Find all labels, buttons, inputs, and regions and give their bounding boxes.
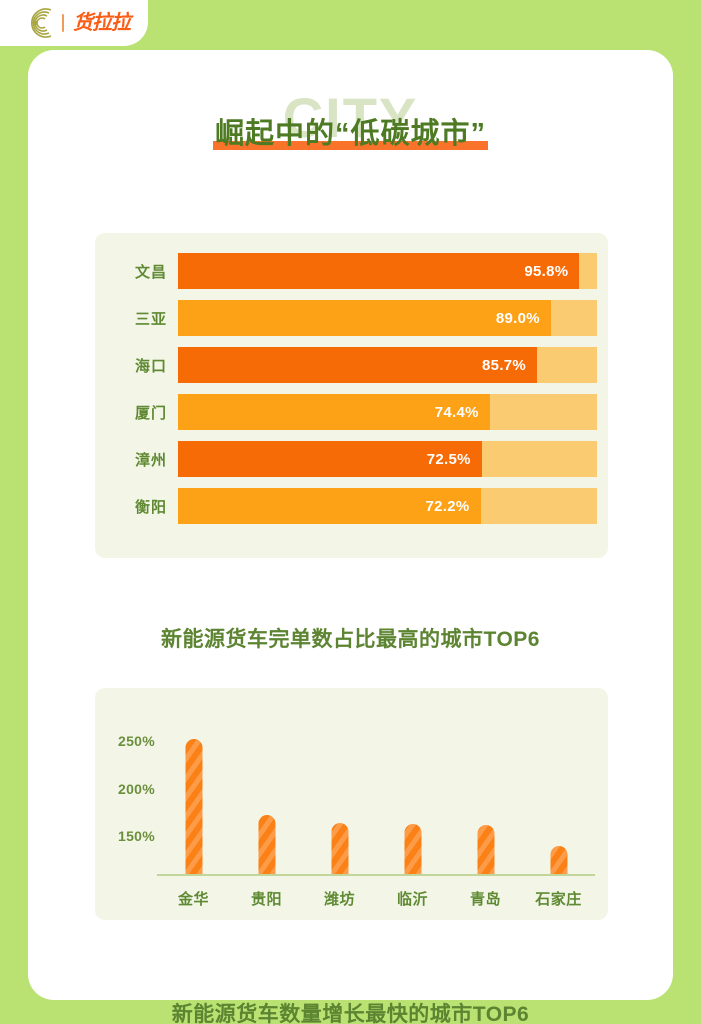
column-chart-panel: 150%200%250% 金华贵阳潍坊临沂青岛石家庄 bbox=[95, 688, 608, 920]
logo-divider bbox=[62, 14, 64, 32]
column-slot: 贵阳 bbox=[230, 688, 303, 920]
column-slot: 青岛 bbox=[449, 688, 522, 920]
column-slot: 石家庄 bbox=[522, 688, 595, 920]
bar-fill: 72.2% bbox=[178, 488, 481, 524]
bar-fill: 89.0% bbox=[178, 300, 551, 336]
bar-track: 72.5% bbox=[178, 441, 597, 477]
bar-fill: 74.4% bbox=[178, 394, 490, 430]
bar-value-label: 72.5% bbox=[427, 451, 482, 468]
bar-row: 漳州72.5% bbox=[95, 441, 608, 477]
brand-name: 货拉拉 bbox=[73, 13, 130, 33]
bar-row-label: 漳州 bbox=[95, 449, 178, 470]
column-bar bbox=[185, 739, 202, 874]
column-bar bbox=[477, 825, 494, 874]
bar-fill: 72.5% bbox=[178, 441, 482, 477]
column-label: 金华 bbox=[157, 888, 230, 909]
header-bar: 货拉拉 bbox=[0, 0, 148, 46]
bar-value-label: 72.2% bbox=[425, 498, 480, 515]
column-bar bbox=[258, 815, 275, 874]
column-label: 石家庄 bbox=[522, 888, 595, 909]
bar-track: 72.2% bbox=[178, 488, 597, 524]
bar-row: 衡阳72.2% bbox=[95, 488, 608, 524]
bar-row-label: 三亚 bbox=[95, 308, 178, 329]
column-bar bbox=[404, 824, 421, 874]
bar-value-label: 95.8% bbox=[524, 263, 579, 280]
bar-row: 三亚89.0% bbox=[95, 300, 608, 336]
column-chart: 150%200%250% 金华贵阳潍坊临沂青岛石家庄 bbox=[95, 688, 608, 920]
bar-value-label: 85.7% bbox=[482, 357, 537, 374]
y-axis-tick-label: 250% bbox=[99, 733, 155, 749]
bar-value-label: 89.0% bbox=[496, 310, 551, 327]
bar-track: 85.7% bbox=[178, 347, 597, 383]
bar-fill: 85.7% bbox=[178, 347, 537, 383]
brand-logo[interactable]: 货拉拉 bbox=[22, 6, 130, 40]
bar-track: 95.8% bbox=[178, 253, 597, 289]
y-axis-tick-label: 200% bbox=[99, 781, 155, 797]
column-label: 贵阳 bbox=[230, 888, 303, 909]
column-label: 潍坊 bbox=[303, 888, 376, 909]
content-card: CITY 崛起中的“低碳城市” 1. 这些城市的减碳成果遥遥领先 文昌95.8%… bbox=[28, 50, 673, 1000]
bar-row: 文昌95.8% bbox=[95, 253, 608, 289]
bar-row-label: 厦门 bbox=[95, 402, 178, 423]
bar-fill: 95.8% bbox=[178, 253, 579, 289]
y-axis: 150%200%250% bbox=[97, 688, 155, 920]
bar-row-label: 衡阳 bbox=[95, 496, 178, 517]
bar-row-label: 文昌 bbox=[95, 261, 178, 282]
bar-row-label: 海口 bbox=[95, 355, 178, 376]
column-label: 青岛 bbox=[449, 888, 522, 909]
bar-row: 海口85.7% bbox=[95, 347, 608, 383]
column-slot: 金华 bbox=[157, 688, 230, 920]
bar-row: 厦门74.4% bbox=[95, 394, 608, 430]
column-slot: 潍坊 bbox=[303, 688, 376, 920]
section-1-caption: 新能源货车完单数占比最高的城市TOP6 bbox=[28, 623, 673, 653]
column-bars-group: 金华贵阳潍坊临沂青岛石家庄 bbox=[157, 688, 595, 920]
column-slot: 临沂 bbox=[376, 688, 449, 920]
bar-track: 74.4% bbox=[178, 394, 597, 430]
page-title: 崛起中的“低碳城市” bbox=[215, 118, 486, 150]
column-bar bbox=[331, 823, 348, 874]
section-2-caption: 新能源货车数量增长最快的城市TOP6 bbox=[28, 998, 673, 1024]
bar-value-label: 74.4% bbox=[435, 404, 490, 421]
bar-chart-panel: 文昌95.8%三亚89.0%海口85.7%厦门74.4%漳州72.5%衡阳72.… bbox=[95, 233, 608, 558]
bar-track: 89.0% bbox=[178, 300, 597, 336]
y-axis-tick-label: 150% bbox=[99, 828, 155, 844]
spiral-logo-icon bbox=[22, 7, 54, 39]
bar-chart-rows: 文昌95.8%三亚89.0%海口85.7%厦门74.4%漳州72.5%衡阳72.… bbox=[95, 253, 608, 535]
column-label: 临沂 bbox=[376, 888, 449, 909]
infographic-page: 货拉拉 CITY 崛起中的“低碳城市” 1. 这些城市的减碳成果遥遥领先 文昌9… bbox=[0, 0, 701, 1024]
title-block: CITY 崛起中的“低碳城市” bbox=[28, 90, 673, 170]
column-bar bbox=[550, 846, 567, 874]
